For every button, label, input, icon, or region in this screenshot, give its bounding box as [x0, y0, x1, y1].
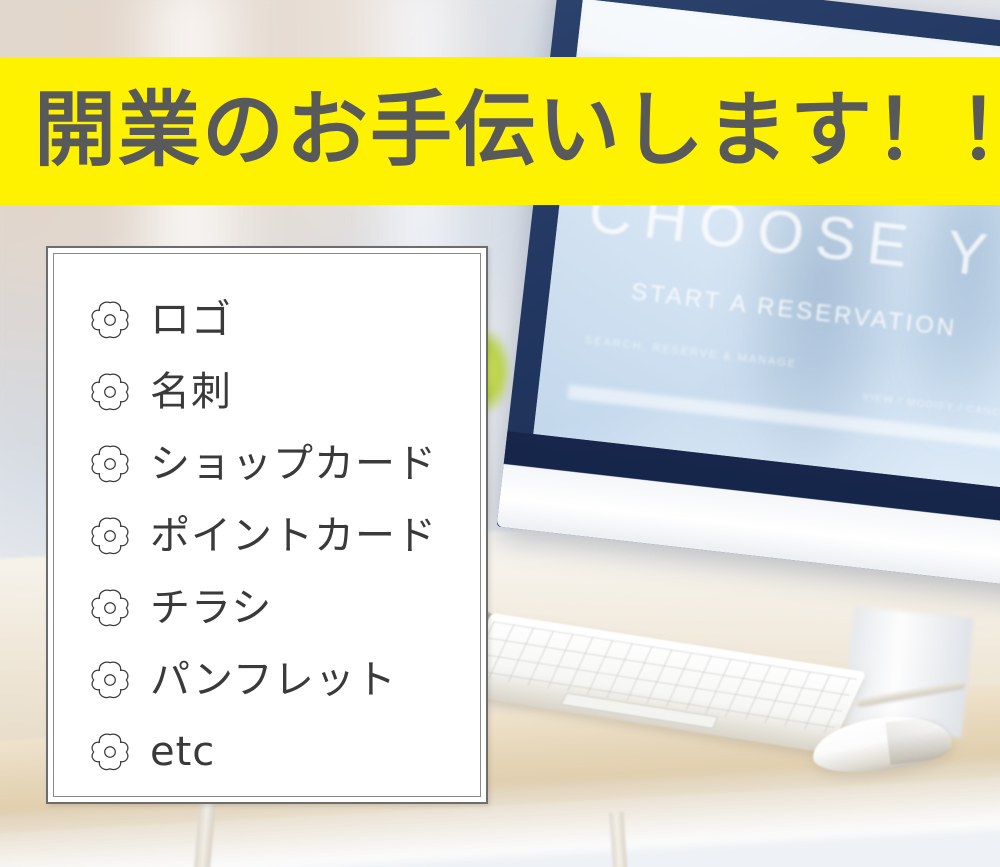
service-list-item: チラシ: [86, 572, 476, 644]
service-list-item-label: ショップカード: [150, 444, 437, 484]
service-list-item-label: チラシ: [150, 588, 272, 628]
service-list-item: ロゴ: [86, 284, 476, 356]
service-list-item-label: ポイントカード: [150, 516, 437, 556]
headline-text: 開業のお手伝いします！！: [34, 90, 1000, 172]
service-list-item-label: etc: [150, 732, 215, 772]
flower-icon: [86, 296, 134, 344]
service-list-item-label: パンフレット: [150, 660, 397, 700]
flower-icon: [86, 584, 134, 632]
poster-canvas: CHOOSE YOUR CAR START A RESERVATION SEAR…: [0, 0, 1000, 867]
flower-icon: [86, 656, 134, 704]
service-list-item: ポイントカード: [86, 500, 476, 572]
service-list-item-label: 名刺: [150, 372, 232, 412]
flower-icon: [86, 512, 134, 560]
flower-icon: [86, 440, 134, 488]
service-list-card: ロゴ名刺ショップカードポイントカードチラシパンフレットetc: [46, 246, 488, 804]
service-list-item: ショップカード: [86, 428, 476, 500]
service-list-item: etc: [86, 716, 476, 788]
headline-banner: 開業のお手伝いします！！: [0, 57, 1000, 205]
service-list-item: 名刺: [86, 356, 476, 428]
service-list-item-label: ロゴ: [150, 300, 232, 340]
flower-icon: [86, 368, 134, 416]
flower-icon: [86, 728, 134, 776]
service-list-item: パンフレット: [86, 644, 476, 716]
service-list: ロゴ名刺ショップカードポイントカードチラシパンフレットetc: [86, 284, 476, 792]
